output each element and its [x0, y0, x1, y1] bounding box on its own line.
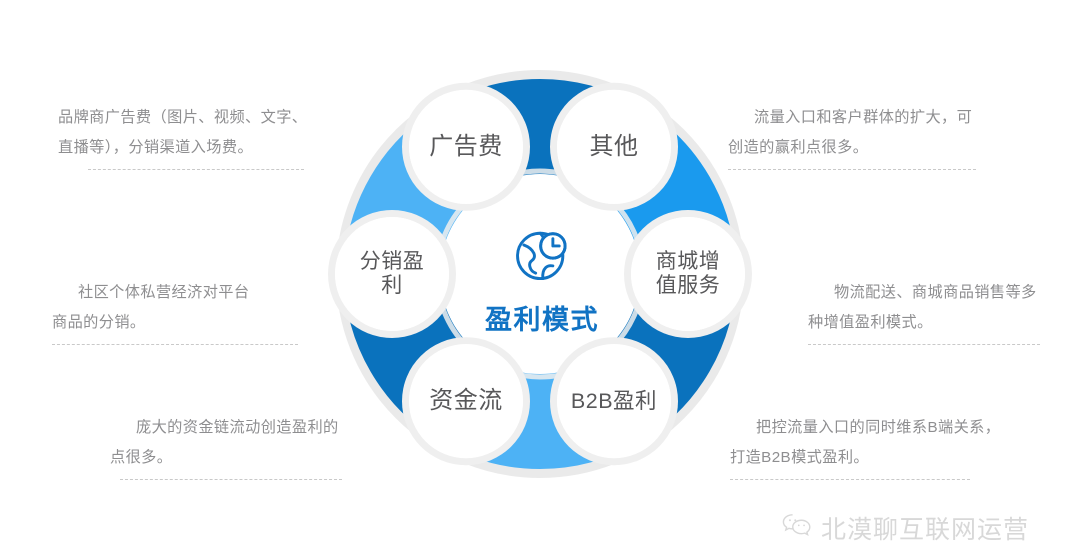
note-divider — [52, 344, 298, 345]
note-bottom-left-line2: 点很多。 — [110, 443, 390, 473]
note-divider — [730, 479, 970, 480]
note-divider — [728, 169, 976, 170]
node-other-label: 其他 — [586, 133, 643, 161]
note-top-left: 品牌商广告费（图片、视频、文字、 直播等），分销渠道入场费。 — [58, 103, 358, 170]
note-divider — [808, 344, 1040, 345]
watermark: 北漠聊互联网运营 — [782, 510, 1029, 546]
note-top-left-line1: 品牌商广告费（图片、视频、文字、 — [58, 103, 358, 133]
center-title: 盈利模式 — [485, 298, 599, 337]
note-top-right-line2: 创造的赢利点很多。 — [728, 133, 1028, 163]
note-top-right: 流量入口和客户群体的扩大，可 创造的赢利点很多。 — [728, 103, 1028, 170]
note-bottom-right-line2: 打造B2B模式盈利。 — [730, 443, 1030, 473]
note-divider — [88, 169, 304, 170]
note-middle-left: 社区个体私营经济对平台 商品的分销。 — [52, 278, 322, 345]
note-middle-left-line1: 社区个体私营经济对平台 — [52, 278, 322, 308]
node-distribution-label: 分销盈利 — [356, 250, 429, 299]
node-distribution[interactable]: 分销盈利 — [335, 217, 449, 331]
node-mall-vas-label: 商城增值服务 — [652, 250, 725, 299]
infographic-canvas: 广告费 其他 商城增值服务 B2B盈利 资金流 分销盈利 — [0, 0, 1080, 558]
note-bottom-right-line1: 把控流量入口的同时维系B端关系， — [730, 413, 1030, 443]
wechat-icon — [782, 512, 812, 545]
note-bottom-left-line1: 庞大的资金链流动创造盈利的 — [110, 413, 390, 443]
node-ad-fee[interactable]: 广告费 — [409, 90, 523, 204]
note-bottom-right: 把控流量入口的同时维系B端关系， 打造B2B模式盈利。 — [730, 413, 1030, 480]
note-middle-right: 物流配送、商城商品销售等多 种增值盈利模式。 — [808, 278, 1078, 345]
note-middle-right-line2: 种增值盈利模式。 — [808, 308, 1078, 338]
note-middle-right-line1: 物流配送、商城商品销售等多 — [808, 278, 1078, 308]
node-mall-vas[interactable]: 商城增值服务 — [631, 217, 745, 331]
node-b2b-profit-label: B2B盈利 — [567, 389, 661, 414]
watermark-text: 北漠聊互联网运营 — [821, 510, 1029, 546]
note-top-right-line1: 流量入口和客户群体的扩大，可 — [728, 103, 1028, 133]
node-b2b-profit[interactable]: B2B盈利 — [557, 344, 671, 458]
globe-clock-icon — [513, 226, 571, 289]
note-divider — [120, 479, 342, 480]
diagram-center: 盈利模式 — [444, 206, 640, 356]
note-bottom-left: 庞大的资金链流动创造盈利的 点很多。 — [110, 413, 390, 480]
node-capital-flow[interactable]: 资金流 — [409, 344, 523, 458]
node-capital-flow-label: 资金流 — [425, 387, 507, 415]
node-other[interactable]: 其他 — [557, 90, 671, 204]
note-top-left-line2: 直播等），分销渠道入场费。 — [58, 133, 358, 163]
note-middle-left-line2: 商品的分销。 — [52, 308, 322, 338]
node-ad-fee-label: 广告费 — [425, 133, 507, 161]
